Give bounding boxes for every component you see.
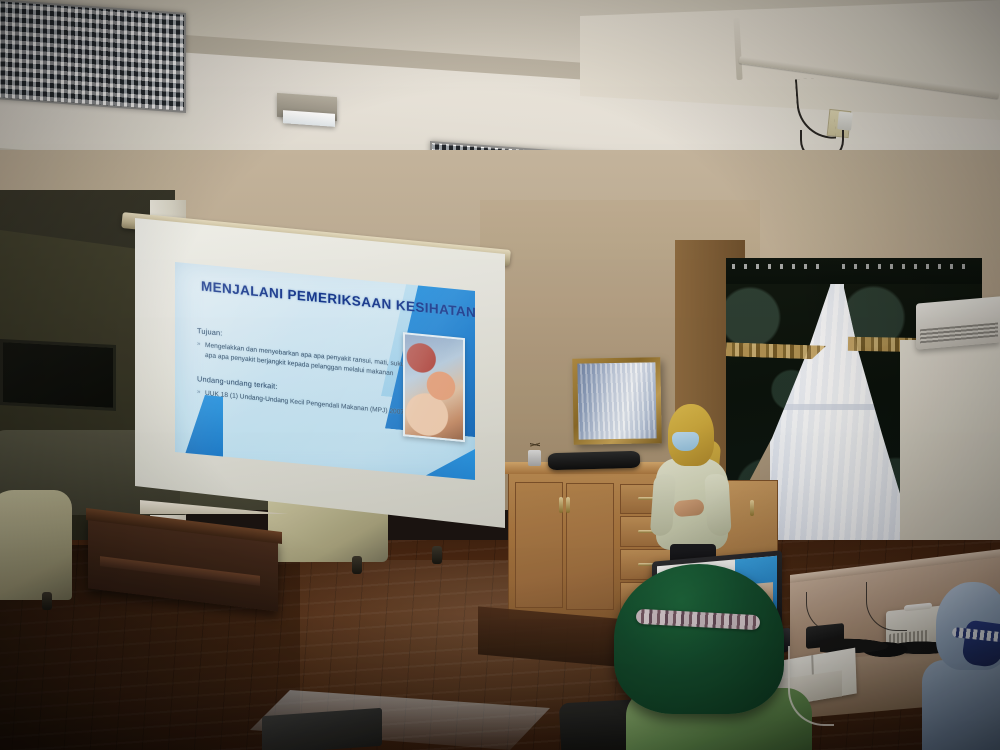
slide-medical-photo (403, 332, 465, 442)
projected-slide: MENJALANI PEMERIKSAAN KESIHATAN Tujuan: … (175, 262, 475, 480)
bullet-marker-icon: » (197, 388, 200, 397)
picture-artwork (577, 362, 656, 439)
curtain-eyelets (842, 264, 974, 269)
cabinet-door-pull-icon[interactable] (559, 497, 563, 513)
attendee-blue-body (922, 660, 1000, 750)
slide-content: MENJALANI PEMERIKSAAN KESIHATAN Tujuan: … (175, 262, 475, 480)
attendee-green-hijab (614, 564, 784, 714)
slide-title: MENJALANI PEMERIKSAAN KESIHATAN (201, 279, 431, 316)
slide-bullet-purpose: » Mengelakkan dan menyebarkan apa apa pe… (205, 341, 423, 381)
slide-bullet-text: UUK 18 (1) Undang-Undang Kecil Pengendal… (205, 390, 406, 417)
cabinet-door-pull-icon[interactable] (750, 500, 754, 516)
pen-holder (528, 450, 541, 466)
wall-mounted-display (0, 339, 116, 411)
far-right-wall (900, 340, 1000, 570)
cabinet-door-pull-icon[interactable] (566, 497, 570, 513)
seated-attendee-blue (920, 582, 1000, 750)
slide-bullet-text: Mengelakkan dan menyebarkan apa apa peny… (205, 342, 417, 377)
electrical-plug-icon (837, 111, 853, 130)
sofa-leg (432, 546, 442, 564)
bullet-marker-icon: » (197, 340, 200, 349)
sofa-armrest-left (0, 490, 72, 600)
cabinet-door[interactable] (515, 482, 563, 608)
attendee-blue-navy-scarf (961, 619, 1000, 668)
air-conditioner-unit (916, 296, 1000, 349)
floor-object (262, 708, 382, 750)
presenter-sleeve-right (704, 473, 731, 536)
room-photo-scene: MENJALANI PEMERIKSAAN KESIHATAN Tujuan: … (0, 0, 1000, 750)
recessed-grid-light-icon (0, 0, 186, 113)
curtain-eyelets (732, 264, 828, 269)
slide-section-label-purpose: Tujuan: (197, 326, 222, 337)
sofa-leg (352, 556, 362, 574)
presenter (648, 404, 744, 579)
sofa-leg (42, 592, 52, 610)
black-equipment-case (548, 451, 640, 470)
seated-attendee-green (600, 560, 815, 750)
pens-icon (530, 437, 540, 452)
curtain-valance (726, 258, 982, 284)
